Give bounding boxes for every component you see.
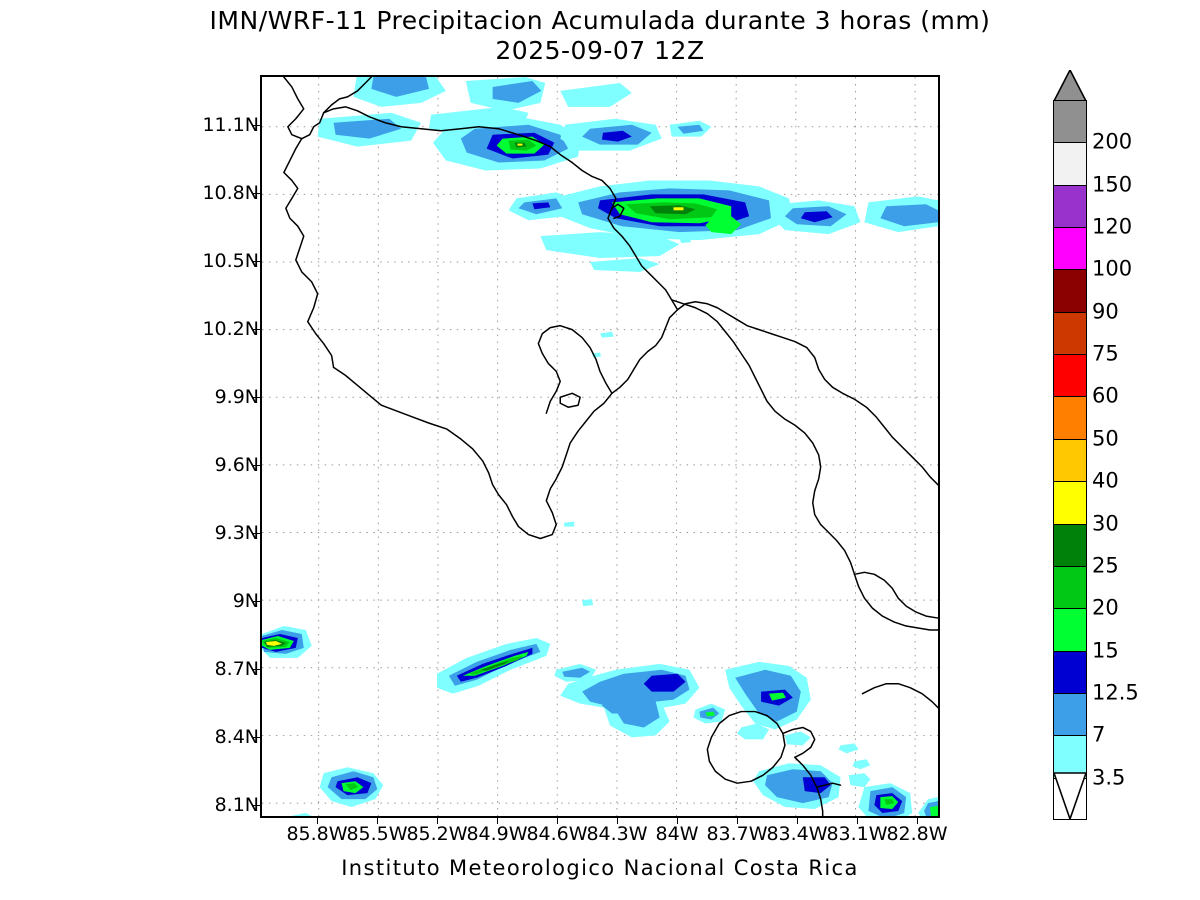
y-tick-label-6: 9.3N (215, 522, 259, 544)
chart-title-block: IMN/WRF-11 Precipitacion Acumulada duran… (0, 6, 1200, 66)
colorbar-swatch (1053, 269, 1087, 311)
colorbar-tick-label: 50 (1092, 426, 1119, 450)
y-tick-label-9: 8.4N (215, 726, 259, 748)
colorbar-swatch (1053, 142, 1087, 184)
colorbar-tick-label: 3.5 (1092, 765, 1125, 789)
x-tick-label-2: 85.2W (406, 823, 467, 845)
colorbar (1053, 100, 1087, 820)
colorbar-tick-label: 75 (1092, 342, 1119, 366)
y-tick-label-0: 11.1N (202, 114, 259, 136)
colorbar-tick-label: 7 (1092, 723, 1105, 747)
colorbar-swatch (1053, 481, 1087, 523)
y-tick-label-2: 10.5N (202, 250, 259, 272)
x-tick-label-4: 84.6W (526, 823, 587, 845)
x-tick-label-8: 83.4W (766, 823, 827, 845)
page-title: IMN/WRF-11 Precipitacion Acumulada duran… (0, 6, 1200, 36)
map-plot-area (260, 75, 940, 818)
y-tick-label-1: 10.8N (202, 182, 259, 204)
colorbar-swatch (1053, 100, 1087, 142)
colorbar-tick-label: 40 (1092, 469, 1119, 493)
x-tick-label-1: 85.5W (346, 823, 407, 845)
colorbar-tick-label: 25 (1092, 553, 1119, 577)
colorbar-tick-label: 12.5 (1092, 680, 1139, 704)
x-tick-label-10: 82.8W (886, 823, 947, 845)
colorbar-swatch (1053, 396, 1087, 438)
x-tick-label-7: 83.7W (706, 823, 767, 845)
x-tick-label-9: 83.1W (826, 823, 887, 845)
colorbar-swatch (1053, 312, 1087, 354)
x-tick-label-6: 84W (656, 823, 699, 845)
colorbar-arrow-bottom (1053, 772, 1087, 820)
x-tick-label-5: 84.3W (586, 823, 647, 845)
colorbar-tick-label: 120 (1092, 215, 1132, 239)
colorbar-swatch (1053, 354, 1087, 396)
colorbar-tick-label: 60 (1092, 384, 1119, 408)
colorbar-swatch (1053, 227, 1087, 269)
colorbar-arrow-top (1053, 70, 1087, 102)
y-tick-label-5: 9.6N (215, 454, 259, 476)
colorbar-swatch (1053, 524, 1087, 566)
chart-subtitle: 2025-09-07 12Z (0, 36, 1200, 66)
y-tick-label-8: 8.7N (215, 658, 259, 680)
y-tick-label-4: 9.9N (215, 386, 259, 408)
colorbar-tick-label: 90 (1092, 299, 1119, 323)
colorbar-swatch (1053, 566, 1087, 608)
colorbar-swatch (1053, 651, 1087, 693)
footer-attribution: Instituto Meteorologico Nacional Costa R… (0, 856, 1200, 880)
colorbar-tick-label: 100 (1092, 257, 1132, 281)
y-tick-label-3: 10.2N (202, 318, 259, 340)
colorbar-tick-label: 150 (1092, 172, 1132, 196)
colorbar-tick-label: 200 (1092, 130, 1132, 154)
x-tick-label-0: 85.8W (286, 823, 347, 845)
colorbar-swatch (1053, 608, 1087, 650)
colorbar-tick-label: 30 (1092, 511, 1119, 535)
y-tick-label-10: 8.1N (215, 794, 259, 816)
x-tick-label-3: 84.9W (466, 823, 527, 845)
colorbar-swatch (1053, 693, 1087, 735)
colorbar-tick-label: 15 (1092, 638, 1119, 662)
colorbar-swatch (1053, 439, 1087, 481)
colorbar-tick-label: 20 (1092, 596, 1119, 620)
y-tick-label-7: 9N (233, 590, 259, 612)
colorbar-swatch (1053, 185, 1087, 227)
coastline-borders (262, 77, 938, 816)
